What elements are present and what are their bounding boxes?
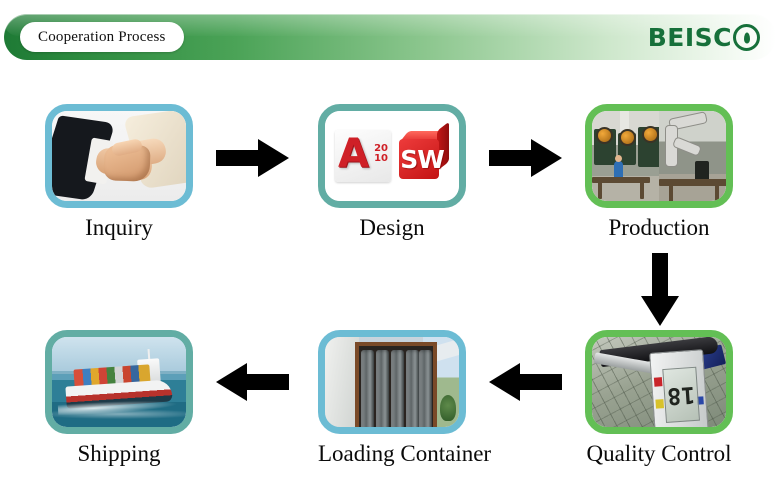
loading-container-image-frame bbox=[318, 330, 466, 434]
bench-leg-3 bbox=[669, 184, 673, 201]
factory-photo-left bbox=[592, 111, 659, 201]
inquiry-label: Inquiry bbox=[45, 215, 193, 241]
solidworks-logo-icon: SW bbox=[399, 131, 449, 181]
header-banner: Cooperation Process BEISC bbox=[4, 14, 776, 60]
digital-caliper-photo: 18 bbox=[592, 337, 726, 427]
autocad-letter: A bbox=[338, 134, 369, 174]
caliper-yellow-button bbox=[655, 399, 664, 409]
factory-floor-photo bbox=[592, 111, 726, 201]
flow-step-production[interactable]: Production bbox=[585, 104, 733, 241]
caliper-body: 18 bbox=[649, 349, 709, 427]
solidworks-text: SW bbox=[399, 139, 445, 179]
flow-step-shipping[interactable]: Shipping bbox=[45, 330, 193, 467]
brand-logo: BEISC bbox=[648, 23, 760, 52]
factory-photo-right bbox=[659, 111, 726, 201]
gear-wheel-1 bbox=[596, 127, 613, 144]
autocad-year-bottom: 10 bbox=[374, 154, 388, 164]
flow-step-quality-control[interactable]: 18 Quality Control bbox=[585, 330, 733, 467]
design-image-frame: A 20 10 SW bbox=[318, 104, 466, 208]
arrow-production-to-quality-control bbox=[639, 253, 681, 327]
autocad-logo-icon: A 20 10 bbox=[335, 130, 391, 182]
wrapped-cargo-roll bbox=[376, 350, 389, 427]
autocad-year: 20 10 bbox=[374, 144, 388, 164]
caliper-reading: 18 bbox=[663, 368, 699, 422]
wrapped-cargo-roll bbox=[419, 350, 432, 427]
bench-leg-2 bbox=[640, 181, 644, 199]
container-opening bbox=[355, 342, 437, 427]
gear-wheel-2 bbox=[619, 129, 636, 146]
container-loading-photo bbox=[325, 337, 459, 427]
tree bbox=[440, 395, 456, 421]
inquiry-image-frame bbox=[45, 104, 193, 208]
shipping-label: Shipping bbox=[45, 441, 193, 467]
flow-step-design[interactable]: A 20 10 SW Design bbox=[318, 104, 466, 241]
arrow-quality-control-to-loading-container bbox=[489, 362, 563, 402]
container-ship-photo bbox=[52, 337, 186, 427]
shipping-image-frame bbox=[45, 330, 193, 434]
arrow-loading-container-to-shipping bbox=[216, 362, 290, 402]
cad-software-logos: A 20 10 SW bbox=[325, 111, 459, 201]
design-label: Design bbox=[318, 215, 466, 241]
arrow-design-to-production bbox=[489, 138, 563, 178]
gear-wheel-3 bbox=[642, 126, 659, 143]
brand-leaf-o-icon bbox=[733, 24, 760, 51]
arrow-inquiry-to-design bbox=[216, 138, 290, 178]
quality-control-label: Quality Control bbox=[585, 441, 733, 467]
quality-control-image-frame: 18 bbox=[585, 330, 733, 434]
wrapped-cargo-roll bbox=[391, 350, 404, 427]
wrapped-cargo-roll bbox=[361, 350, 374, 427]
caliper-red-button bbox=[654, 377, 663, 387]
handshake-photo bbox=[52, 111, 186, 201]
production-image-frame bbox=[585, 104, 733, 208]
container-side-wall bbox=[325, 337, 359, 427]
wrapped-cargo-roll bbox=[406, 350, 419, 427]
page-title-pill: Cooperation Process bbox=[20, 22, 184, 52]
ship-wake bbox=[52, 409, 186, 419]
production-label: Production bbox=[585, 215, 733, 241]
flow-step-loading-container[interactable]: Loading Container bbox=[318, 330, 466, 467]
bench-leg-1 bbox=[598, 181, 602, 199]
flow-step-inquiry[interactable]: Inquiry bbox=[45, 104, 193, 241]
loading-container-label: Loading Container bbox=[318, 441, 466, 467]
caliper-lcd-screen: 18 bbox=[662, 367, 700, 423]
bench-leg-4 bbox=[715, 184, 719, 201]
page-title: Cooperation Process bbox=[38, 29, 166, 46]
work-piece bbox=[695, 161, 709, 181]
brand-text: BEISC bbox=[648, 23, 732, 52]
